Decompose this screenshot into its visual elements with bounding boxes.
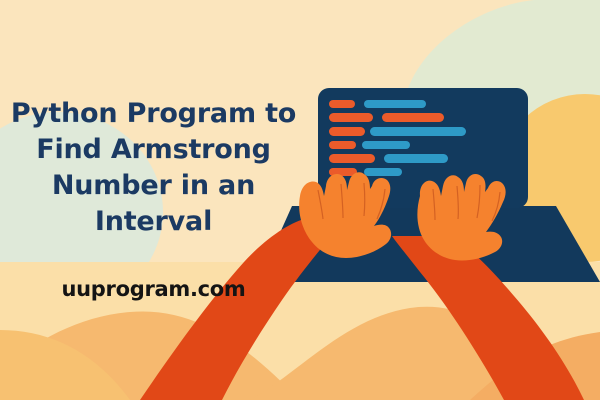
site-url-label: uuprogram.com bbox=[6, 277, 301, 301]
page-title: Python Program to Find Armstrong Number … bbox=[6, 96, 301, 240]
text-layer: Python Program to Find Armstrong Number … bbox=[0, 0, 600, 400]
poster-canvas: Python Program to Find Armstrong Number … bbox=[0, 0, 600, 400]
